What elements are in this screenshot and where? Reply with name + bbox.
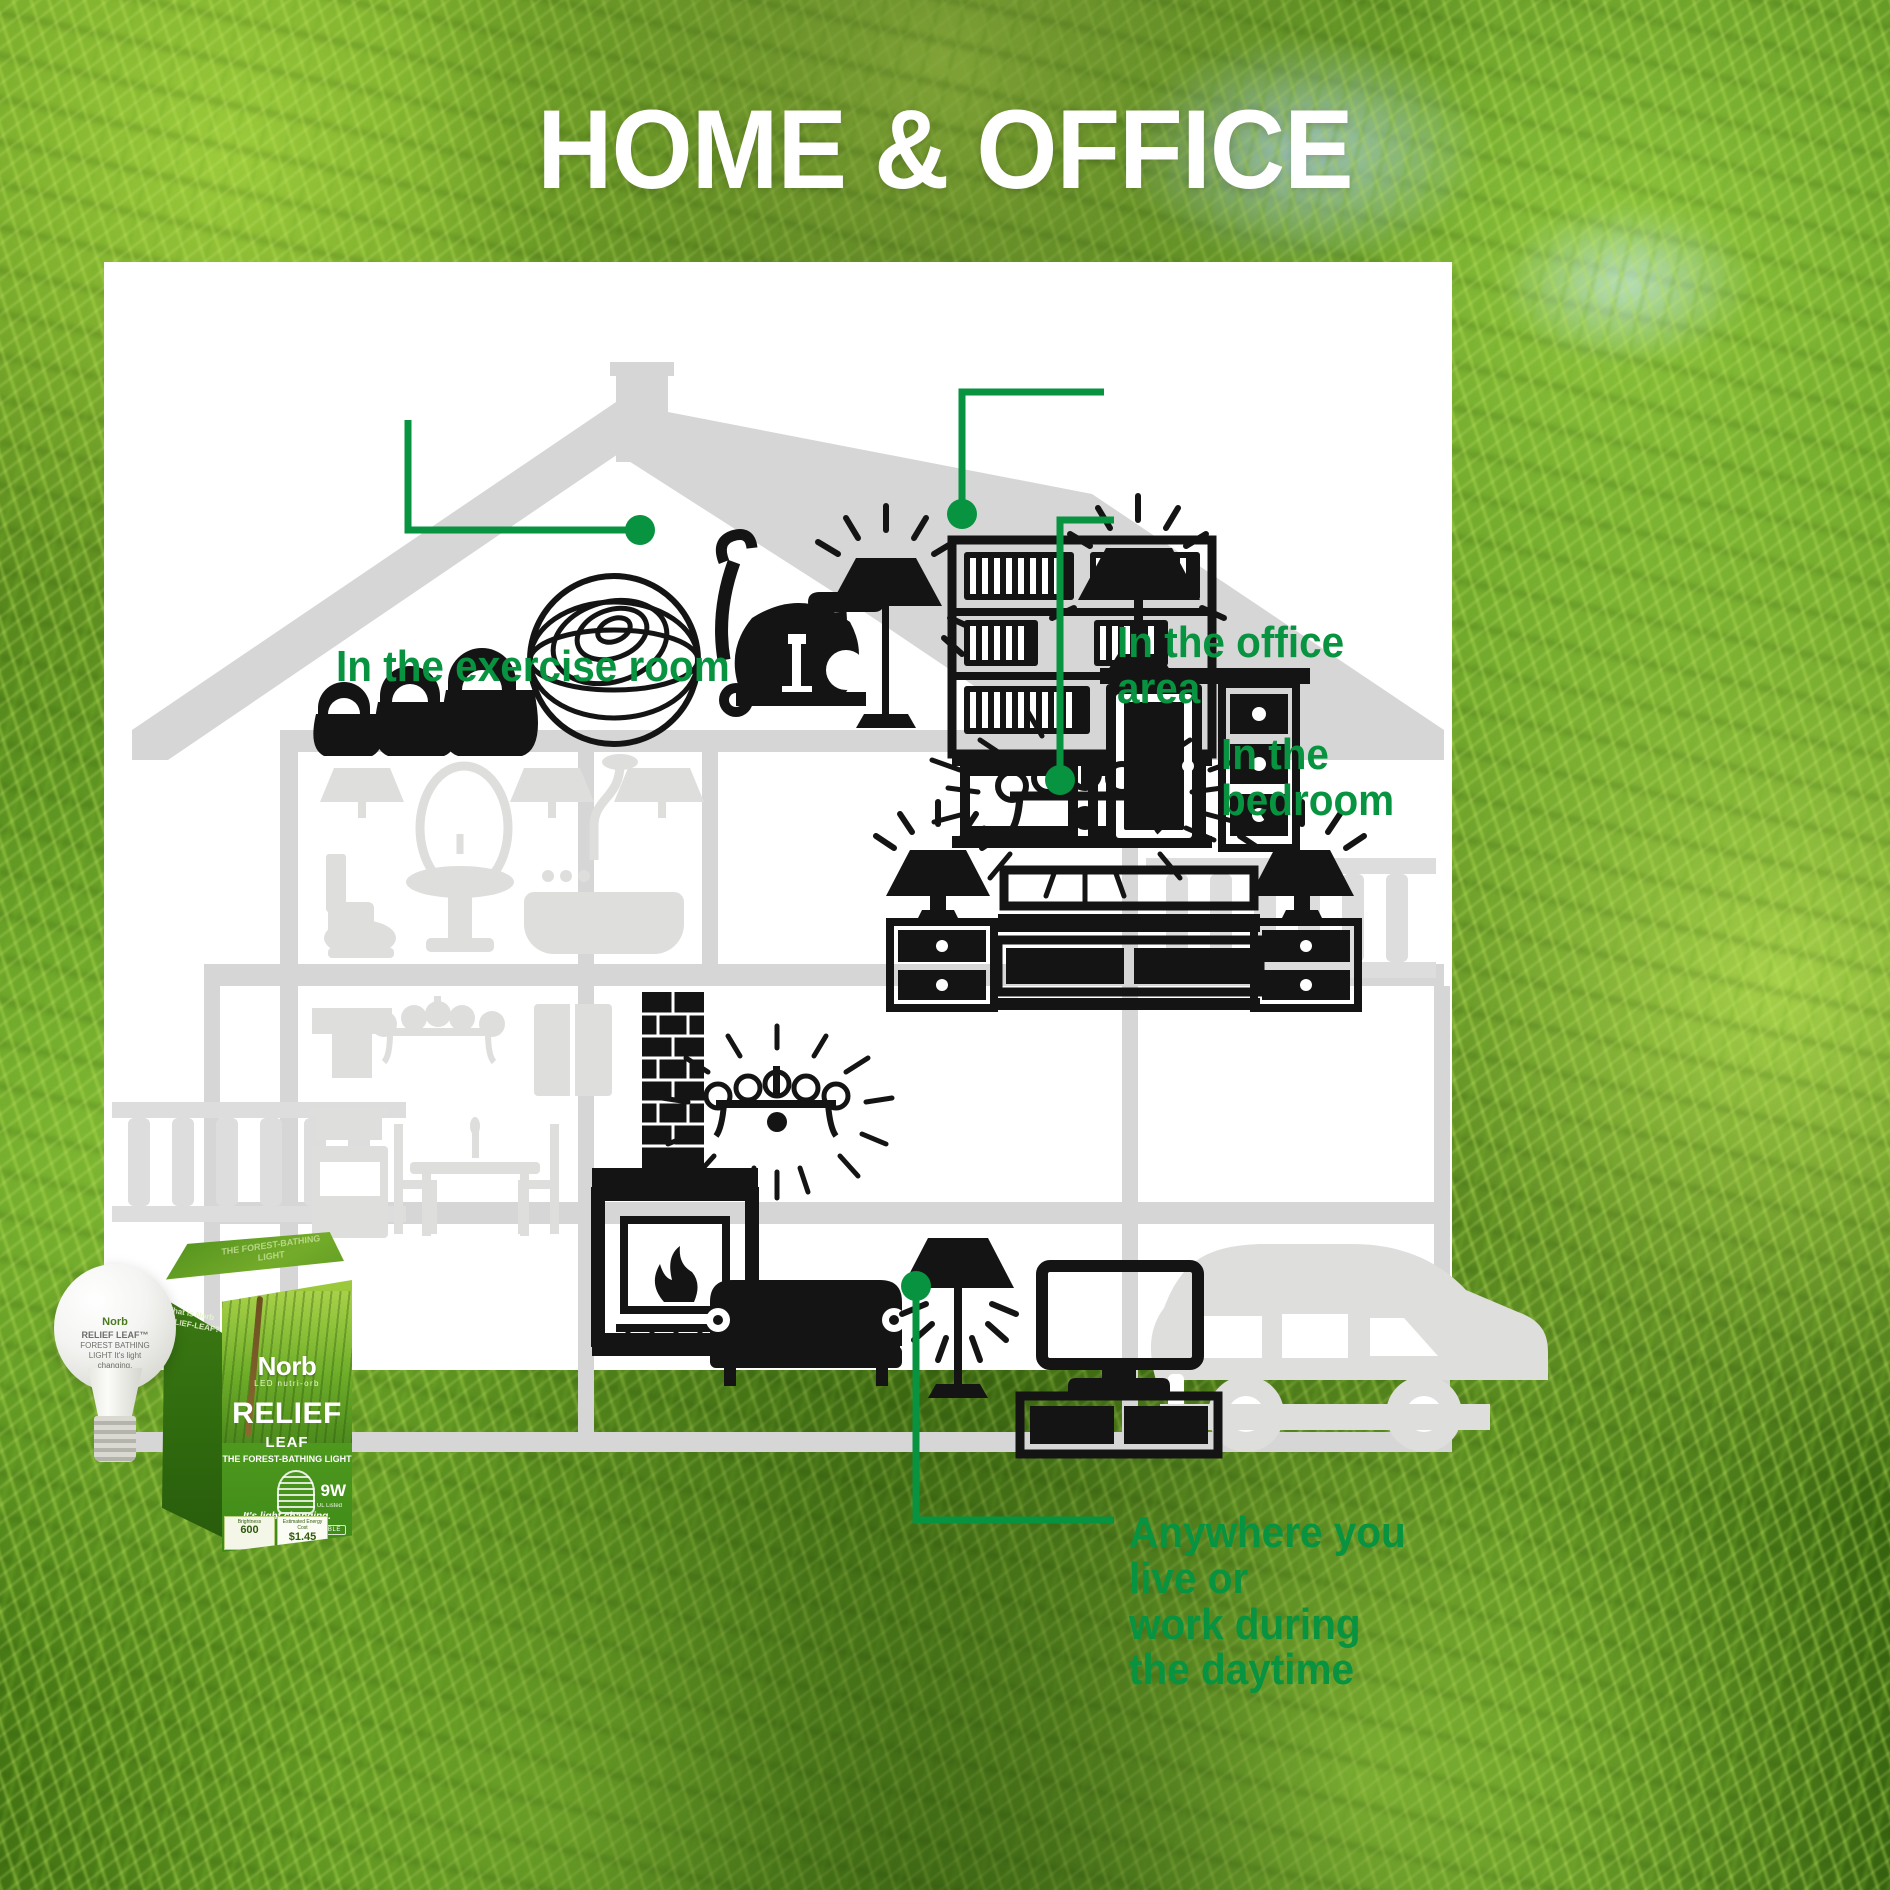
brand-logo: Norb — [222, 1351, 352, 1382]
dot-office — [947, 499, 977, 529]
diagram-card: In the exercise room In the office area … — [104, 262, 1452, 1370]
product-shot: THE FOREST-BATHING LIGHT What is Norb RE… — [46, 1228, 356, 1558]
callout-label-exercise: In the exercise room — [336, 644, 730, 690]
ul-certification: UL Listed — [317, 1503, 342, 1509]
brand-tagline: LED nutri-orb — [222, 1379, 352, 1388]
page-title: HOME & OFFICE — [66, 94, 1824, 206]
product-descriptor: THE FOREST-BATHING LIGHT — [222, 1454, 352, 1465]
connector-office — [962, 392, 1104, 510]
product-subname: LEAF — [222, 1434, 352, 1451]
led-bulb: Norb RELIEF LEAF™ FOREST BATHING LIGHT I… — [54, 1264, 176, 1464]
bulb-printed-label: Norb RELIEF LEAF™ FOREST BATHING LIGHT I… — [72, 1316, 158, 1371]
fact-cost-label: Estimated Energy Cost — [283, 1519, 322, 1531]
lighting-facts: Brightness 600 Estimated Energy Cost $1.… — [224, 1516, 328, 1550]
product-box: THE FOREST-BATHING LIGHT What is Norb RE… — [152, 1232, 352, 1552]
box-front-panel: Norb LED nutri-orb RELIEF LEAF THE FORES… — [222, 1280, 352, 1552]
bulb-outline-icon — [277, 1470, 315, 1514]
bulb-neck — [84, 1368, 146, 1420]
callout-label-office: In the office area — [1117, 620, 1425, 712]
dot-bedroom — [1045, 765, 1075, 795]
bulb-name: RELIEF LEAF™ — [72, 1330, 158, 1341]
bulb-screw-base — [94, 1416, 136, 1462]
callout-label-bedroom: In the bedroom — [1221, 732, 1434, 824]
bulb-brand: Norb — [72, 1316, 158, 1330]
fact-energy-cost: Estimated Energy Cost $1.45 — [277, 1516, 328, 1550]
connector-bedroom — [1060, 520, 1114, 782]
dot-anywhere — [901, 1271, 931, 1301]
fact-brightness: Brightness 600 — [224, 1516, 275, 1550]
house-diagram: In the exercise room In the office area … — [104, 262, 1452, 1370]
fact-brightness-value: 600 — [225, 1525, 274, 1537]
product-name: RELIEF — [222, 1400, 352, 1429]
connector-exercise — [408, 420, 638, 530]
callout-label-anywhere: Anywhere you live or work during the day… — [1129, 1510, 1426, 1693]
bulb-sub: FOREST BATHING LIGHT It's light changing… — [72, 1341, 158, 1371]
fact-cost-value: $1.45 — [278, 1532, 327, 1544]
dot-exercise — [625, 515, 655, 545]
wattage-label: 9W — [321, 1481, 347, 1501]
